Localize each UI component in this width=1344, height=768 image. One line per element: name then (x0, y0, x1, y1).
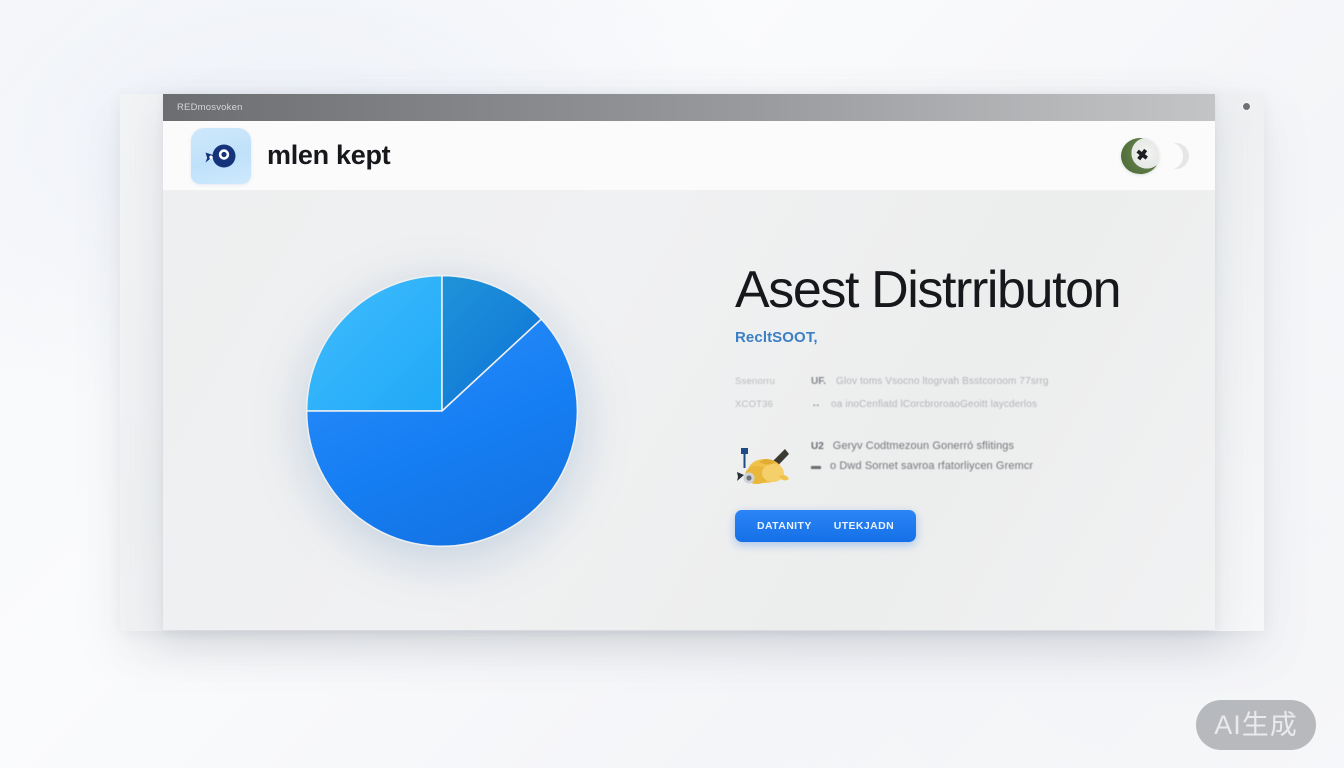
primary-cta-button[interactable]: DATANITY UTEKJADN (735, 510, 916, 542)
window-title-text: REDmosvoken (177, 102, 243, 113)
toolbox-illustration (735, 442, 797, 488)
pie-chart[interactable] (300, 270, 584, 552)
toolbox-illustration-svg (735, 442, 797, 488)
stat-key: XCOT36 (735, 399, 801, 410)
stat-text: oa inoCenfiatd lCorcbroroaoGeoitt laycde… (831, 399, 1037, 410)
pie-chart-svg (300, 270, 584, 552)
stat-text: Glov toms Vsocno ltogrvah Bsstcoroom 77s… (836, 376, 1049, 387)
feature-mark: ▬ (811, 461, 821, 472)
feature-mark: U2 (811, 441, 824, 452)
cta-primary-label: DATANITY (757, 520, 812, 532)
page-subtitle: RecltSOOT, (735, 329, 1187, 346)
brand-block[interactable]: mlen kept (191, 128, 1121, 184)
header-actions: ✖ (1121, 138, 1189, 174)
feature-line: U2 Geryv Codtmezoun Gonerró sflitings (811, 440, 1033, 452)
feature-line: ▬ o Dwd Sornet savroa rfatorliycen Gremc… (811, 460, 1033, 472)
app-window: REDmosvoken mlen kept ✖ (163, 94, 1215, 630)
stat-key: Ssenorru (735, 376, 801, 387)
feature-text: Geryv Codtmezoun Gonerró sflitings (833, 440, 1014, 452)
ai-watermark-text: AI生成 (1214, 712, 1298, 739)
feature-lines: U2 Geryv Codtmezoun Gonerró sflitings ▬ … (811, 438, 1033, 480)
content-area: Asest Distrributon RecltSOOT, Ssenorru U… (163, 191, 1215, 630)
stat-rows: Ssenorru UF. Glov toms Vsocno ltogrvah B… (735, 376, 1187, 410)
cta-secondary-label: UTEKJADN (834, 520, 894, 532)
user-avatar[interactable]: ✖ (1121, 138, 1159, 174)
feature-text: o Dwd Sornet savroa rfatorliycen Gremcr (830, 460, 1033, 472)
ai-watermark-badge: AI生成 (1196, 700, 1316, 750)
avatar-glyph-icon: ✖ (1135, 147, 1150, 164)
brand-name: mlen kept (267, 140, 390, 171)
app-header: mlen kept ✖ (163, 121, 1215, 191)
stat-row: XCOT36 ↔ oa inoCenfiatd lCorcbroroaoGeoi… (735, 399, 1187, 410)
stat-mark: ↔ (811, 399, 821, 410)
stat-mark: UF. (811, 376, 826, 387)
pie-slice-a[interactable] (307, 275, 442, 410)
logo-tile (191, 128, 251, 184)
info-panel: Asest Distrributon RecltSOOT, Ssenorru U… (701, 263, 1187, 557)
page-title: Asest Distrributon (735, 263, 1187, 318)
stat-row: Ssenorru UF. Glov toms Vsocno ltogrvah B… (735, 376, 1187, 387)
window-titlebar[interactable]: REDmosvoken (163, 94, 1215, 121)
eye-logo-icon (204, 141, 238, 171)
crescent-icon[interactable] (1163, 143, 1189, 169)
chart-panel (183, 191, 701, 630)
feature-block: U2 Geryv Codtmezoun Gonerró sflitings ▬ … (735, 438, 1187, 488)
